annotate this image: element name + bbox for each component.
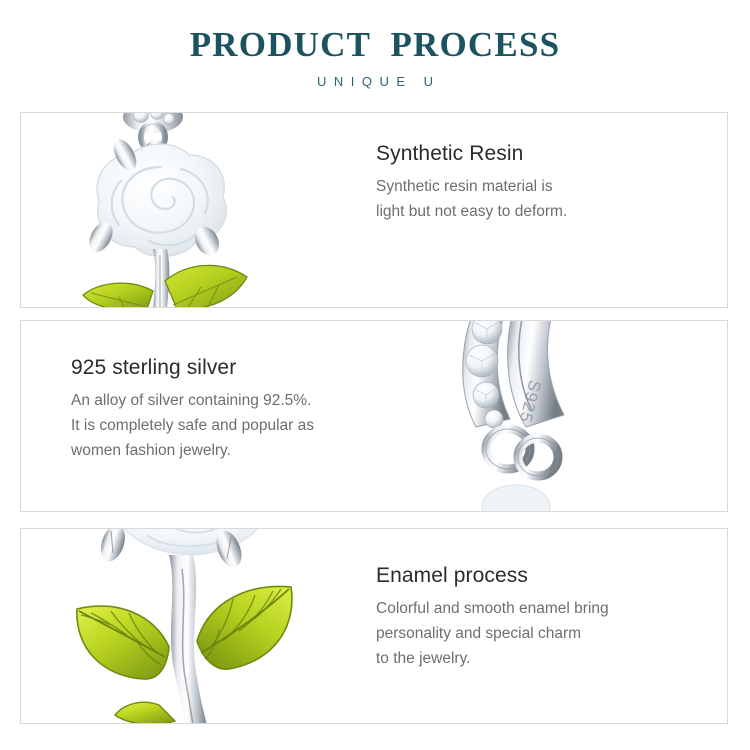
feature-title: Enamel process xyxy=(376,563,696,589)
product-image-resin-rose xyxy=(61,112,361,308)
feature-body: Colorful and smooth enamel bring persona… xyxy=(376,596,696,671)
product-image-enamel-leaves xyxy=(51,529,371,724)
feature-body-line: An alloy of silver containing 92.5%. xyxy=(71,388,401,413)
feature-body-line: to the jewelry. xyxy=(376,646,696,671)
feature-body-line: Synthetic resin material is xyxy=(376,174,696,199)
feature-text-sterling-silver: 925 sterling silver An alloy of silver c… xyxy=(71,355,401,464)
feature-title: Synthetic Resin xyxy=(376,141,696,167)
feature-text-synthetic-resin: Synthetic Resin Synthetic resin material… xyxy=(376,141,696,224)
feature-panel-synthetic-resin: Synthetic Resin Synthetic resin material… xyxy=(20,112,728,308)
page-title: PRODUCT PROCESS xyxy=(0,26,750,65)
feature-body: Synthetic resin material is light but no… xyxy=(376,174,696,224)
feature-panel-enamel-process: Enamel process Colorful and smooth ename… xyxy=(20,528,728,724)
page-header: PRODUCT PROCESS UNIQUE U xyxy=(0,26,750,89)
feature-body-line: light but not easy to deform. xyxy=(376,199,696,224)
product-image-silver-bail: S925 xyxy=(376,320,676,512)
page-subtitle: UNIQUE U xyxy=(0,74,750,89)
feature-body-line: women fashion jewelry. xyxy=(71,438,401,463)
feature-body: An alloy of silver containing 92.5%. It … xyxy=(71,388,401,463)
feature-title: 925 sterling silver xyxy=(71,355,401,381)
feature-text-enamel-process: Enamel process Colorful and smooth ename… xyxy=(376,563,696,672)
feature-panel-sterling-silver: 925 sterling silver An alloy of silver c… xyxy=(20,320,728,512)
feature-body-line: It is completely safe and popular as xyxy=(71,413,401,438)
feature-body-line: Colorful and smooth enamel bring xyxy=(376,596,696,621)
feature-body-line: personality and special charm xyxy=(376,621,696,646)
product-process-infographic: PRODUCT PROCESS UNIQUE U xyxy=(0,0,750,750)
